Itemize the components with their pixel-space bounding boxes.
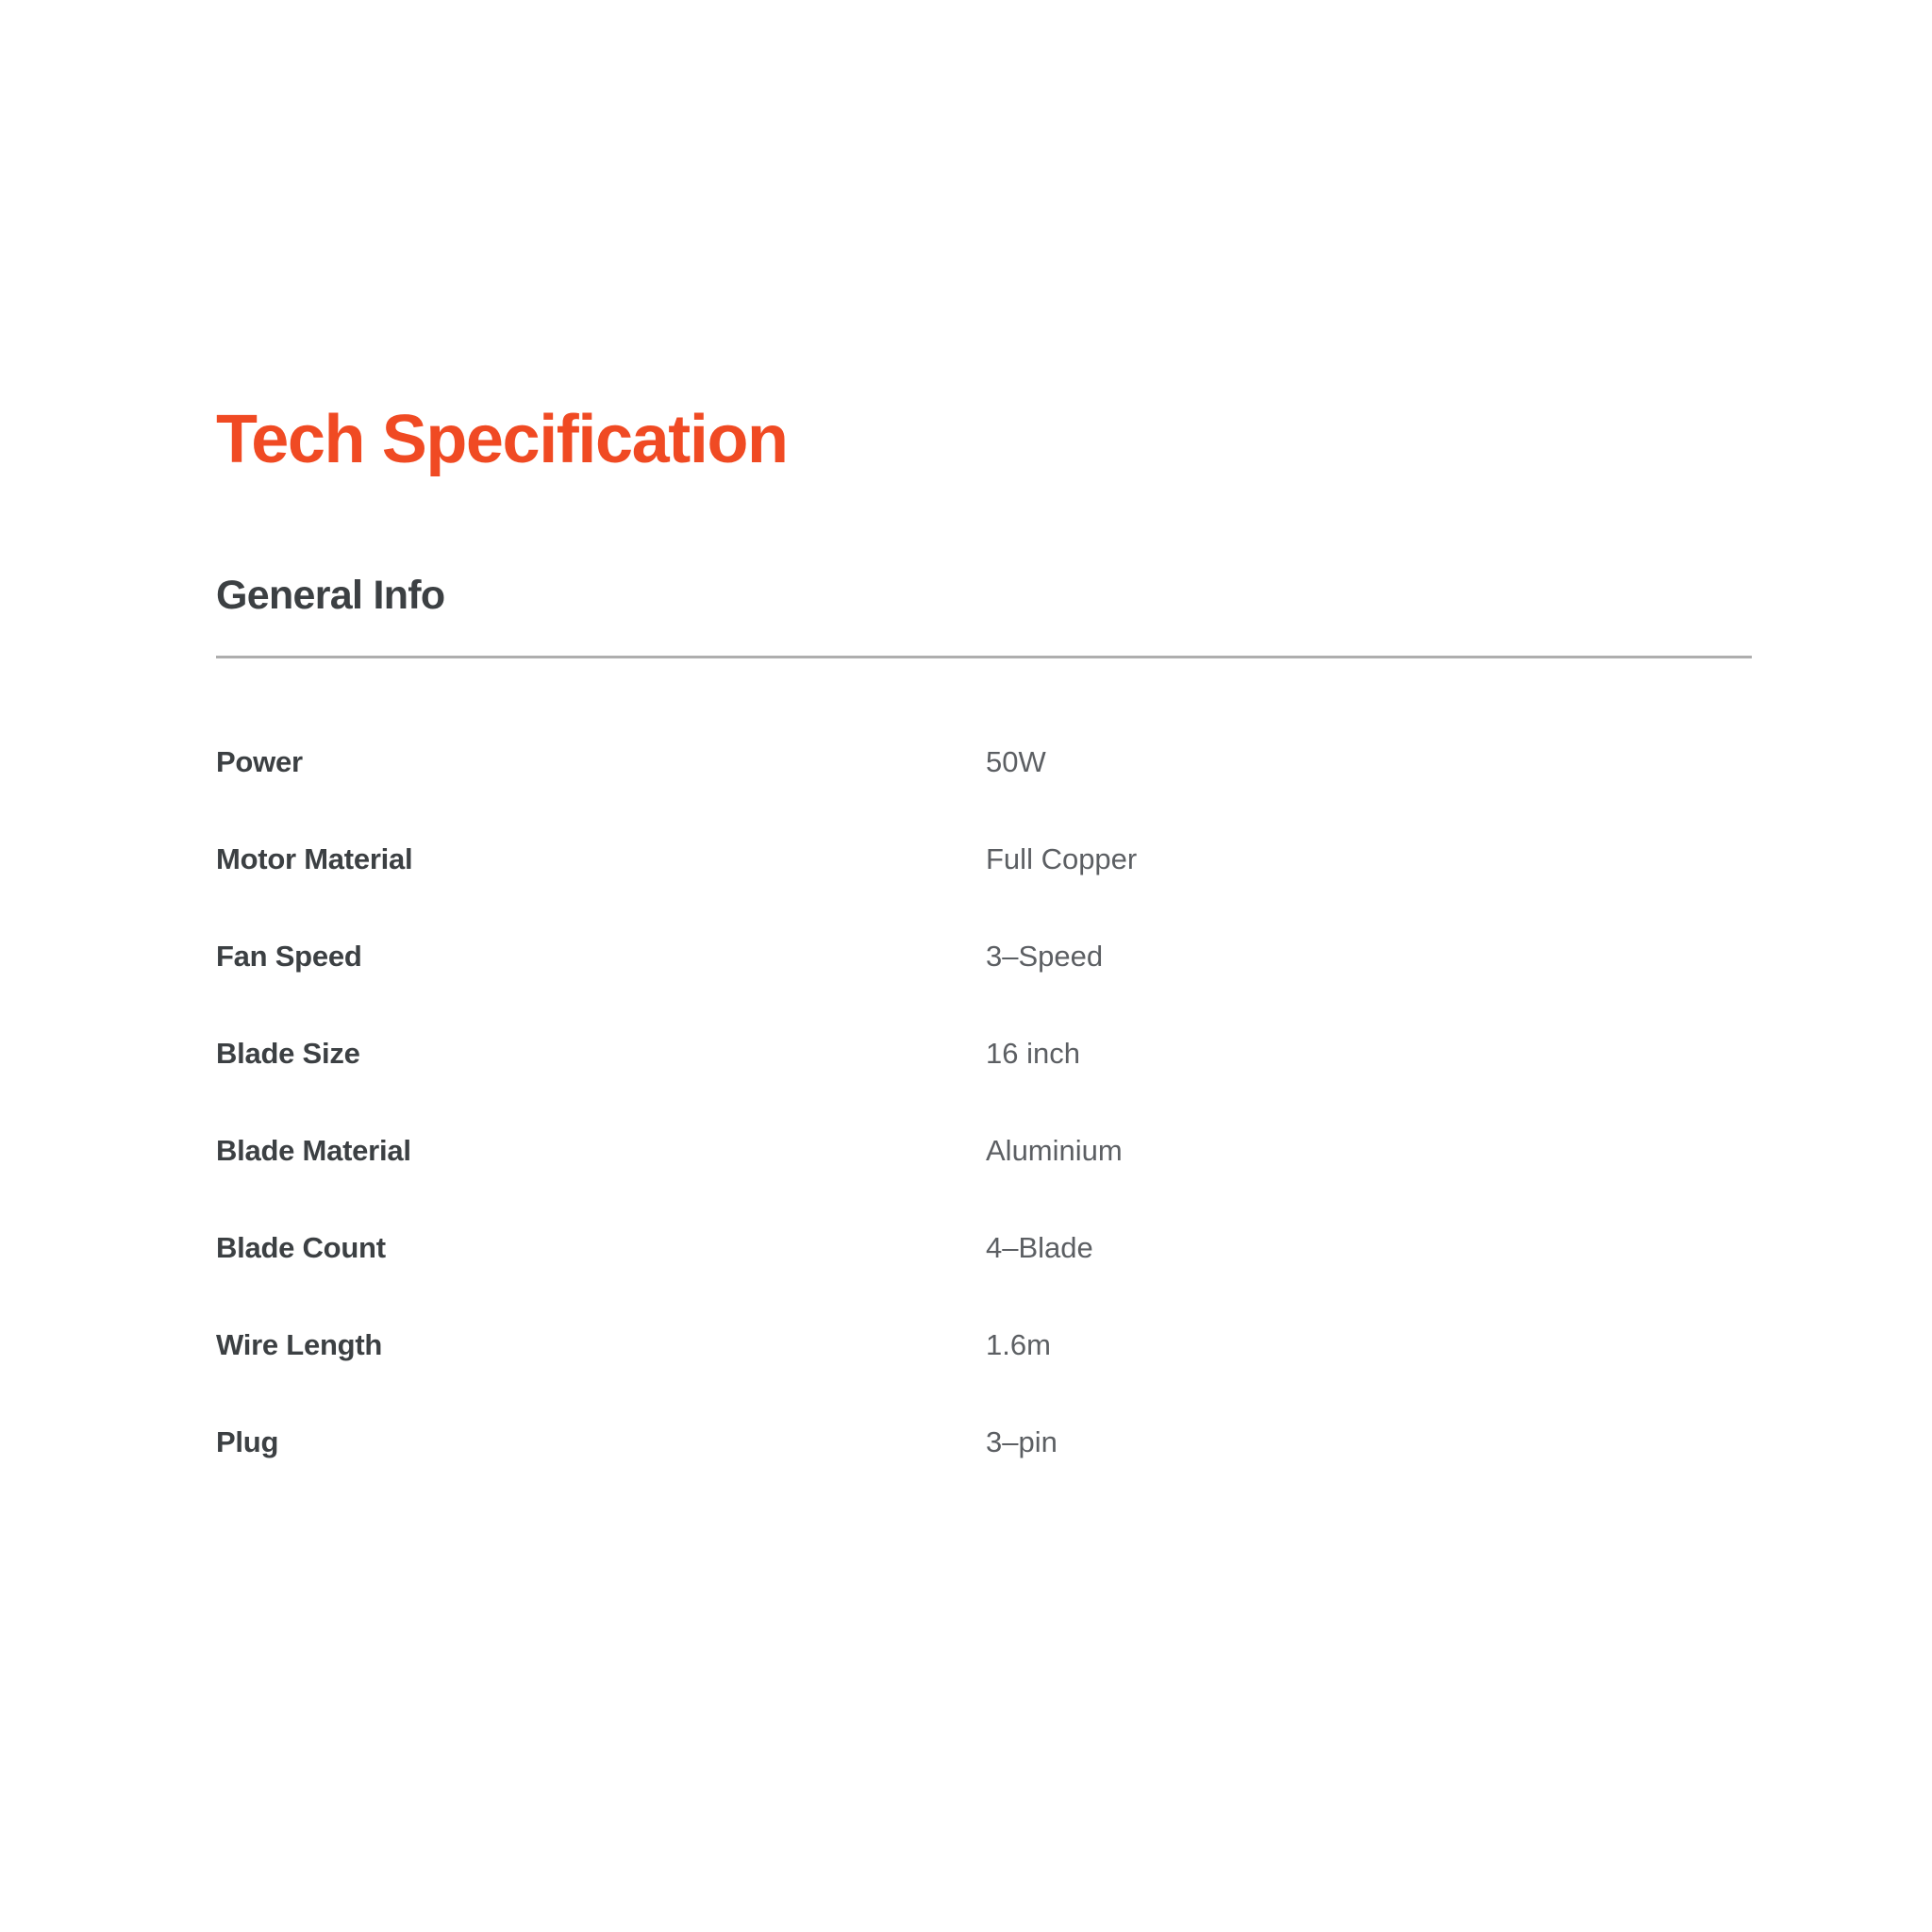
table-row: Fan Speed 3–Speed [216, 908, 1752, 1005]
spec-value: 16 inch [986, 1005, 1752, 1102]
spec-value: 1.6m [986, 1296, 1752, 1393]
table-row: Blade Count 4–Blade [216, 1199, 1752, 1296]
spec-value: 3–pin [986, 1393, 1752, 1491]
section-divider [216, 656, 1752, 658]
spec-table: Power 50W Motor Material Full Copper Fan… [216, 713, 1752, 1491]
table-row: Wire Length 1.6m [216, 1296, 1752, 1393]
spec-table-body: Power 50W Motor Material Full Copper Fan… [216, 713, 1752, 1491]
spec-label: Wire Length [216, 1296, 986, 1393]
spec-label: Fan Speed [216, 908, 986, 1005]
spec-value: Full Copper [986, 810, 1752, 908]
spec-value: 3–Speed [986, 908, 1752, 1005]
spec-value: 50W [986, 713, 1752, 810]
table-row: Power 50W [216, 713, 1752, 810]
table-row: Motor Material Full Copper [216, 810, 1752, 908]
spec-sheet: Tech Specification General Info Power 50… [216, 406, 1752, 1491]
tech-specification-page: Tech Specification General Info Power 50… [0, 0, 1932, 1932]
table-row: Blade Material Aluminium [216, 1102, 1752, 1199]
spec-label: Blade Material [216, 1102, 986, 1199]
spec-label: Plug [216, 1393, 986, 1491]
table-row: Plug 3–pin [216, 1393, 1752, 1491]
general-info-section: General Info Power 50W Motor Material Fu… [216, 575, 1752, 1491]
spec-value: Aluminium [986, 1102, 1752, 1199]
section-heading-general-info: General Info [216, 575, 1752, 616]
spec-label: Blade Count [216, 1199, 986, 1296]
spec-label: Blade Size [216, 1005, 986, 1102]
spec-label: Motor Material [216, 810, 986, 908]
spec-label: Power [216, 713, 986, 810]
table-row: Blade Size 16 inch [216, 1005, 1752, 1102]
page-title: Tech Specification [216, 406, 1752, 474]
spec-value: 4–Blade [986, 1199, 1752, 1296]
